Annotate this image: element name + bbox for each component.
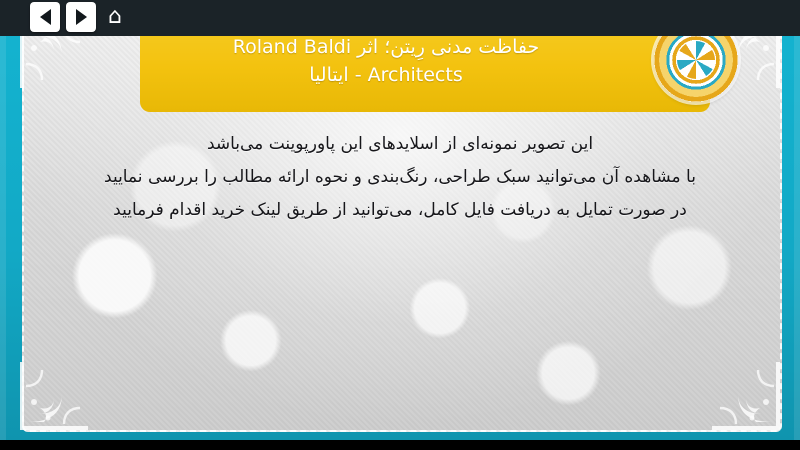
corner-ornament-icon bbox=[18, 360, 90, 432]
slide-title-line-2: حفاظت مدنی رِیتن؛ اثر Roland Baldi bbox=[158, 33, 614, 62]
home-button[interactable]: ⌂ bbox=[100, 2, 130, 32]
bottom-bar bbox=[0, 440, 800, 450]
body-line-2: با مشاهده آن می‌توانید سبک طراحی، رنگ‌بن… bbox=[50, 161, 750, 194]
navigation-toolbar: ⌂ bbox=[0, 0, 800, 36]
home-icon: ⌂ bbox=[108, 6, 122, 28]
corner-ornament-icon bbox=[710, 360, 782, 432]
body-line-1: این تصویر نمونه‌ای از اسلایدهای این پاور… bbox=[50, 128, 750, 161]
slide-title-line-3: Architects - ایتالیا bbox=[158, 61, 614, 90]
body-line-3: در صورت تمایل به دریافت فایل کامل، می‌تو… bbox=[50, 194, 750, 227]
previous-slide-button[interactable] bbox=[30, 2, 60, 32]
slide-viewer: کامل بررسی طراحی معماری مرکز حفاظت مدنی … bbox=[0, 0, 800, 450]
triangle-left-icon bbox=[40, 9, 51, 25]
next-slide-button[interactable] bbox=[66, 2, 96, 32]
slide-body-text: این تصویر نمونه‌ای از اسلایدهای این پاور… bbox=[50, 128, 750, 227]
slide-canvas: کامل بررسی طراحی معماری مرکز حفاظت مدنی … bbox=[0, 0, 800, 450]
triangle-right-icon bbox=[76, 9, 87, 25]
